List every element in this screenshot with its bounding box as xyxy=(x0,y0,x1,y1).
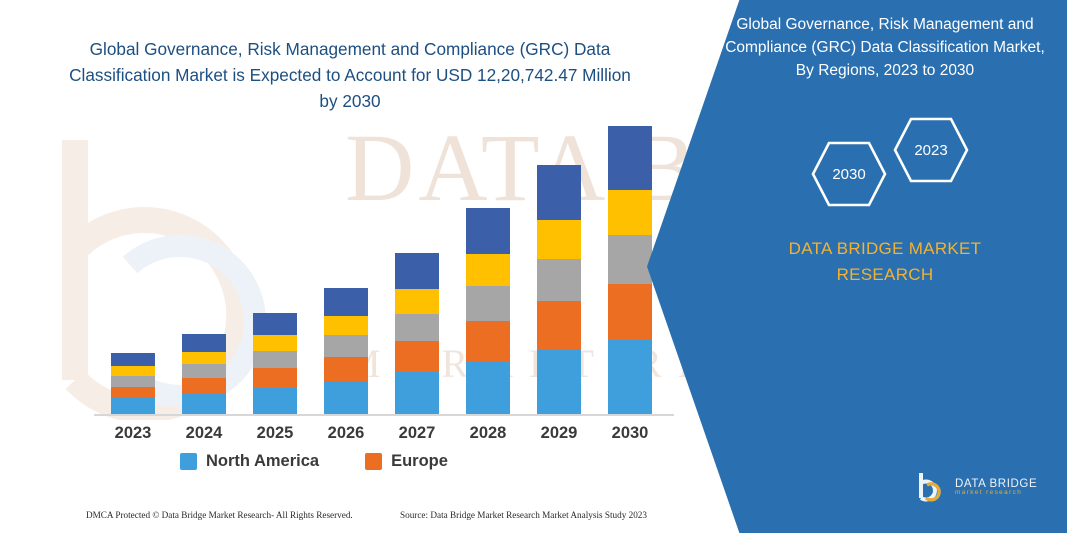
chart-legend: North AmericaEurope xyxy=(180,452,448,471)
logo-name: DATA BRIDGE xyxy=(955,478,1037,490)
hex-badge-2030: 2030 xyxy=(810,140,888,208)
footer: DMCA Protected © Data Bridge Market Rese… xyxy=(0,506,700,530)
bar-segment-europe xyxy=(182,378,226,394)
bar-segment-europe xyxy=(253,368,297,387)
page-title: Global Governance, Risk Management and C… xyxy=(60,36,640,114)
bar-segment-asia-pacific xyxy=(395,314,439,341)
hexagon-badges: 2023 2030 xyxy=(800,116,980,196)
x-axis-label-2025: 2025 xyxy=(235,424,315,443)
bar-group xyxy=(608,126,652,414)
bar-segment-south-america xyxy=(608,190,652,235)
bar-segment-europe xyxy=(608,284,652,340)
legend-item-europe: Europe xyxy=(365,452,448,471)
x-axis-label-2030: 2030 xyxy=(590,424,670,443)
bar-segment-south-america xyxy=(253,335,297,351)
bar-segment-middle-east-and-africa xyxy=(324,288,368,316)
bar-segment-middle-east-and-africa xyxy=(395,253,439,289)
bar-segment-north-america xyxy=(253,388,297,414)
bar-segment-south-america xyxy=(395,289,439,314)
footer-copyright: DMCA Protected © Data Bridge Market Rese… xyxy=(86,510,353,520)
bar-group xyxy=(466,208,510,414)
bar-group xyxy=(324,288,368,414)
x-axis-label-2029: 2029 xyxy=(519,424,599,443)
bar-segment-asia-pacific xyxy=(608,235,652,284)
bar-segment-south-america xyxy=(182,352,226,365)
bar-segment-middle-east-and-africa xyxy=(182,334,226,352)
legend-swatch xyxy=(180,453,197,470)
x-axis-line xyxy=(94,414,674,416)
x-axis-tick-labels: 20232024202520262027202820292030 xyxy=(86,424,676,450)
bar-segment-south-america xyxy=(466,254,510,286)
stacked-bar-chart: 20232024202520262027202820292030 xyxy=(86,118,676,420)
chart-plot-area xyxy=(86,118,676,414)
bar-group xyxy=(253,313,297,414)
bar-group xyxy=(111,353,155,414)
bar-segment-europe xyxy=(466,321,510,361)
bar-segment-south-america xyxy=(111,366,155,376)
logo-text: DATA BRIDGE market research xyxy=(955,478,1037,497)
x-axis-label-2026: 2026 xyxy=(306,424,386,443)
legend-label: North America xyxy=(206,452,319,471)
x-axis-label-2024: 2024 xyxy=(164,424,244,443)
panel-title: Global Governance, Risk Management and C… xyxy=(720,14,1050,83)
bar-segment-asia-pacific xyxy=(111,376,155,387)
legend-item-north-america: North America xyxy=(180,452,319,471)
bar-segment-north-america xyxy=(111,398,155,414)
x-axis-label-2028: 2028 xyxy=(448,424,528,443)
bar-segment-middle-east-and-africa xyxy=(466,208,510,254)
bar-segment-middle-east-and-africa xyxy=(537,165,581,220)
brand-line-1: DATA BRIDGE MARKET xyxy=(760,236,1010,262)
bar-segment-north-america xyxy=(466,361,510,415)
bar-segment-south-america xyxy=(324,316,368,335)
legend-label: Europe xyxy=(391,452,448,471)
bar-segment-europe xyxy=(537,301,581,350)
logo-tagline: market research xyxy=(955,490,1037,497)
bar-segment-middle-east-and-africa xyxy=(608,126,652,190)
bar-segment-north-america xyxy=(182,394,226,414)
bar-segment-asia-pacific xyxy=(324,335,368,356)
brand-name: DATA BRIDGE MARKET RESEARCH xyxy=(760,236,1010,289)
brand-line-2: RESEARCH xyxy=(760,262,1010,288)
bar-segment-north-america xyxy=(324,381,368,414)
bar-segment-north-america xyxy=(537,350,581,414)
bar-segment-middle-east-and-africa xyxy=(253,313,297,335)
bar-segment-europe xyxy=(395,341,439,372)
bar-group xyxy=(182,334,226,414)
bar-segment-north-america xyxy=(608,340,652,414)
legend-swatch xyxy=(365,453,382,470)
hex-badge-2030-label: 2030 xyxy=(832,166,865,183)
footer-source: Source: Data Bridge Market Research Mark… xyxy=(400,510,647,520)
bar-group xyxy=(395,253,439,414)
bar-segment-middle-east-and-africa xyxy=(111,353,155,367)
bar-segment-south-america xyxy=(537,220,581,259)
x-axis-label-2023: 2023 xyxy=(93,424,173,443)
bar-segment-europe xyxy=(111,387,155,399)
bar-segment-europe xyxy=(324,357,368,381)
logo-mark-icon xyxy=(915,470,949,504)
infographic-page: DATA BRIDGE MARKET RESEARCH Global Gover… xyxy=(0,0,1067,533)
hex-badge-2023: 2023 xyxy=(892,116,970,184)
bar-segment-asia-pacific xyxy=(253,351,297,369)
x-axis-label-2027: 2027 xyxy=(377,424,457,443)
bar-segment-north-america xyxy=(395,372,439,414)
bar-segment-asia-pacific xyxy=(466,286,510,321)
bar-segment-asia-pacific xyxy=(182,364,226,378)
company-logo: DATA BRIDGE market research xyxy=(915,466,1045,508)
hex-badge-2023-label: 2023 xyxy=(914,142,947,159)
bar-group xyxy=(537,165,581,414)
bar-segment-asia-pacific xyxy=(537,259,581,301)
